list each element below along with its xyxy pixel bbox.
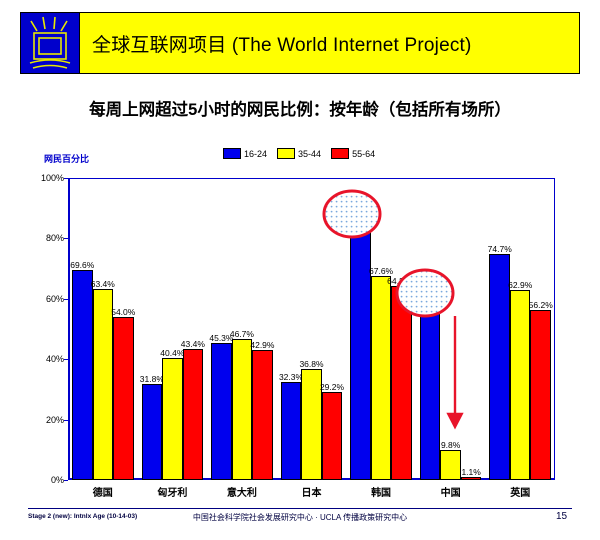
x-axis-label-英国: 英国 bbox=[510, 484, 530, 499]
page-title: 全球互联网项目 (The World Internet Project) bbox=[92, 30, 472, 57]
x-axis-label-中国: 中国 bbox=[441, 484, 461, 499]
legend-swatch-16-24 bbox=[223, 148, 241, 159]
y-axis-title: 网民百分比 bbox=[44, 152, 89, 165]
legend-item: 35-44 bbox=[277, 148, 321, 159]
legend-label: 55-64 bbox=[352, 149, 375, 159]
legend-label: 16-24 bbox=[244, 149, 267, 159]
y-axis-tick-label: 20% bbox=[46, 415, 64, 425]
x-axis-label-意大利: 意大利 bbox=[227, 484, 257, 499]
y-axis-tick-label: 0% bbox=[51, 475, 64, 485]
y-axis-tick-mark bbox=[64, 359, 68, 360]
chart-subtitle: 每周上网超过5小时的网民比例：按年龄（包括所有场所） bbox=[0, 96, 600, 120]
y-axis-tick-label: 80% bbox=[46, 233, 64, 243]
legend-swatch-55-64 bbox=[331, 148, 349, 159]
header-title-box: 全球互联网项目 (The World Internet Project) bbox=[80, 13, 579, 73]
legend-item: 55-64 bbox=[331, 148, 375, 159]
footer-page-number: 15 bbox=[556, 511, 567, 522]
y-axis-tick-label: 40% bbox=[46, 354, 64, 364]
x-axis-label-韩国: 韩国 bbox=[371, 484, 391, 499]
slide-header: 全球互联网项目 (The World Internet Project) bbox=[20, 12, 580, 74]
x-axis-label-日本: 日本 bbox=[302, 484, 322, 499]
footer-organization: 中国社会科学院社会发展研究中心 · UCLA 传播政策研究中心 bbox=[0, 512, 600, 523]
y-axis-tick-label: 60% bbox=[46, 294, 64, 304]
legend-swatch-35-44 bbox=[277, 148, 295, 159]
y-axis-tick-mark bbox=[64, 480, 68, 481]
x-axis-label-德国: 德国 bbox=[93, 484, 113, 499]
y-axis-tick-mark bbox=[64, 238, 68, 239]
footer-divider bbox=[28, 508, 572, 509]
x-axis-label-匈牙利: 匈牙利 bbox=[157, 484, 187, 499]
y-axis-tick-mark bbox=[64, 178, 68, 179]
legend-label: 35-44 bbox=[298, 149, 321, 159]
y-axis-tick-label: 100% bbox=[41, 173, 64, 183]
crt-monitor-icon bbox=[21, 13, 80, 73]
y-axis-tick-mark bbox=[64, 420, 68, 421]
chart-legend: 16-24 35-44 55-64 bbox=[223, 148, 375, 159]
legend-item: 16-24 bbox=[223, 148, 267, 159]
y-axis-tick-mark bbox=[64, 299, 68, 300]
plot-area bbox=[68, 178, 555, 480]
